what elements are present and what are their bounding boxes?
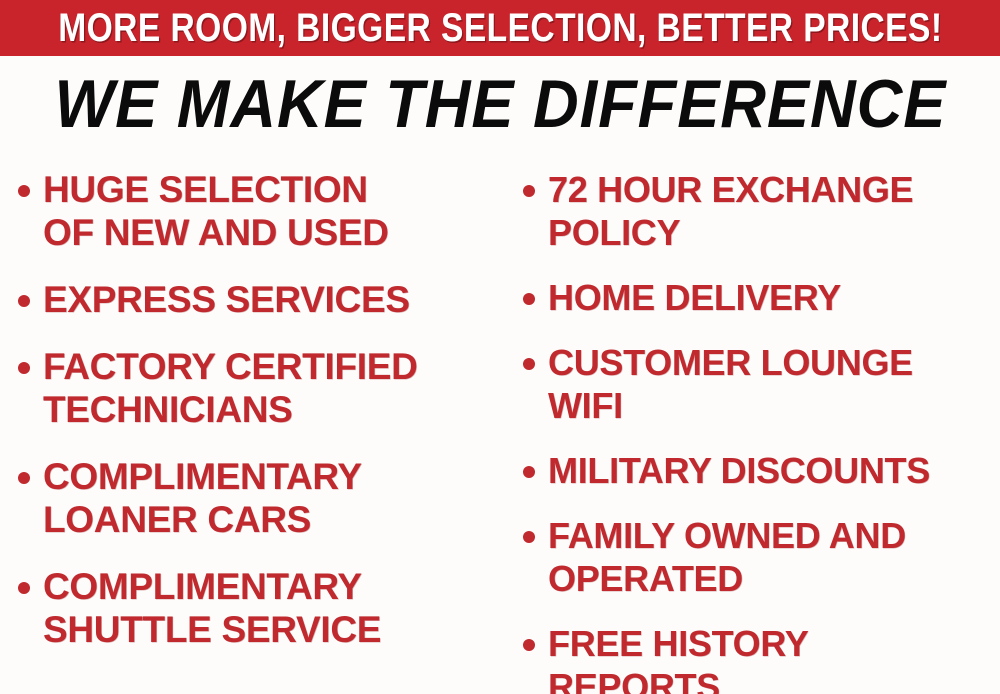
bullet-dot-icon <box>18 582 30 594</box>
list-item-label: MILITARY DISCOUNTS <box>548 449 930 492</box>
list-item: FACTORY CERTIFIED TECHNICIANS <box>18 345 505 431</box>
list-item: FREE HISTORY REPORTS <box>523 622 1000 694</box>
benefits-column-right: 72 HOUR EXCHANGE POLICY HOME DELIVERY CU… <box>505 160 1000 694</box>
benefits-columns: HUGE SELECTION OF NEW AND USED EXPRESS S… <box>0 160 1000 694</box>
list-item: 72 HOUR EXCHANGE POLICY <box>523 168 1000 254</box>
banner-headline-text: MORE ROOM, BIGGER SELECTION, BETTER PRIC… <box>58 8 942 48</box>
list-item-label: FAMILY OWNED AND OPERATED <box>548 514 906 600</box>
list-item-label: FREE HISTORY REPORTS <box>548 622 808 694</box>
bullet-dot-icon <box>523 531 535 543</box>
list-item: FAMILY OWNED AND OPERATED <box>523 514 1000 600</box>
bullet-dot-icon <box>18 472 30 484</box>
bullet-dot-icon <box>523 358 535 370</box>
list-item: COMPLIMENTARY SHUTTLE SERVICE <box>18 565 505 651</box>
bullet-dot-icon <box>18 362 30 374</box>
dealership-benefits-poster: MORE ROOM, BIGGER SELECTION, BETTER PRIC… <box>0 0 1000 694</box>
bullet-dot-icon <box>18 185 30 197</box>
list-item: HUGE SELECTION OF NEW AND USED <box>18 168 505 254</box>
list-item-label: COMPLIMENTARY LOANER CARS <box>43 455 362 541</box>
top-banner: MORE ROOM, BIGGER SELECTION, BETTER PRIC… <box>0 0 1000 56</box>
list-item: CUSTOMER LOUNGE WIFI <box>523 341 1000 427</box>
list-item: HOME DELIVERY <box>523 276 1000 319</box>
list-item-label: CUSTOMER LOUNGE WIFI <box>548 341 913 427</box>
list-item-label: FACTORY CERTIFIED TECHNICIANS <box>43 345 418 431</box>
list-item-label: 72 HOUR EXCHANGE POLICY <box>548 168 913 254</box>
list-item-label: COMPLIMENTARY SHUTTLE SERVICE <box>43 565 381 651</box>
list-item-label: HUGE SELECTION OF NEW AND USED <box>43 168 389 254</box>
list-item: EXPRESS SERVICES <box>18 278 505 321</box>
bullet-dot-icon <box>523 293 535 305</box>
bullet-dot-icon <box>523 185 535 197</box>
list-item: MILITARY DISCOUNTS <box>523 449 1000 492</box>
list-item: COMPLIMENTARY LOANER CARS <box>18 455 505 541</box>
bullet-dot-icon <box>18 295 30 307</box>
bullet-dot-icon <box>523 639 535 651</box>
bullet-dot-icon <box>523 466 535 478</box>
list-item-label: HOME DELIVERY <box>548 276 841 319</box>
list-item-label: EXPRESS SERVICES <box>43 278 410 321</box>
headline-text: WE MAKE THE DIFFERENCE <box>54 68 946 140</box>
main-headline: WE MAKE THE DIFFERENCE <box>0 68 1000 140</box>
benefits-column-left: HUGE SELECTION OF NEW AND USED EXPRESS S… <box>0 160 505 694</box>
